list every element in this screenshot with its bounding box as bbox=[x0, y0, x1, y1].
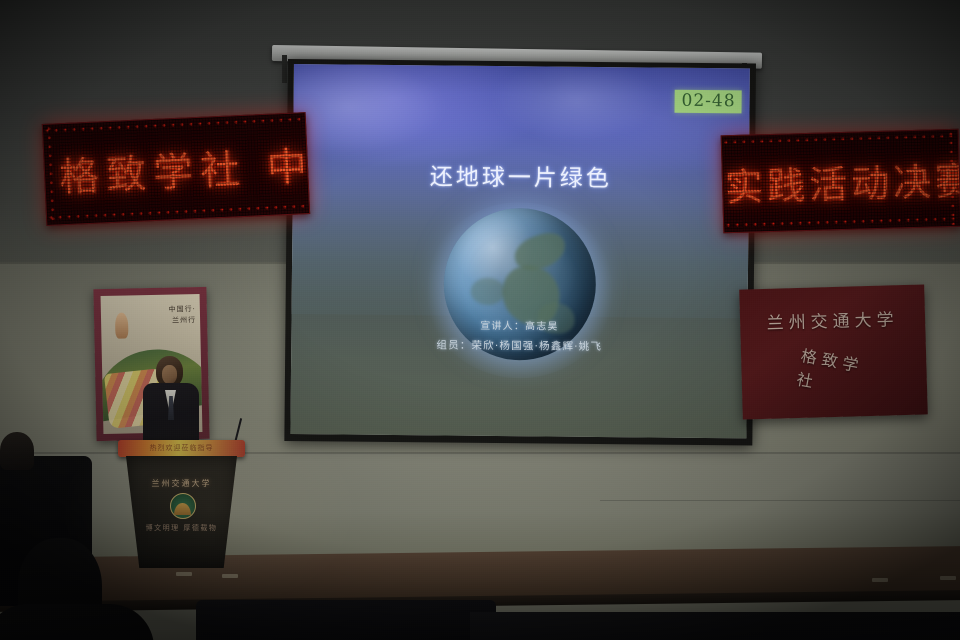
audience-seat-row bbox=[196, 600, 496, 640]
led-text-left: 格致学社 中 bbox=[44, 134, 308, 204]
slide-presenter-line: 宣讲人：高志昊 bbox=[291, 315, 747, 334]
podium: 热烈欢迎莅临指导 兰州交通大学 博文明理 厚德载物 bbox=[117, 440, 246, 568]
podium-university-text: 兰州交通大学 bbox=[117, 478, 246, 489]
led-marquee-right: 实践活动决赛 bbox=[721, 129, 960, 234]
slide-cloud-texture bbox=[293, 64, 750, 218]
floor-marker bbox=[176, 572, 192, 576]
presenter-face bbox=[162, 365, 177, 384]
floor-marker bbox=[940, 576, 956, 580]
slide-title: 还地球一片绿色 bbox=[293, 156, 749, 194]
globe-landmass bbox=[471, 278, 505, 306]
podium-top-panel: 热烈欢迎莅临指导 bbox=[118, 440, 245, 457]
poster-figure-icon bbox=[115, 312, 129, 338]
led-marquee-left: 格致学社 中 bbox=[42, 112, 310, 226]
podium-top-text: 热烈欢迎莅临指导 bbox=[118, 443, 245, 453]
wall-banner: 兰州交通大学 格致学社 bbox=[739, 284, 928, 419]
banner-line-university: 兰州交通大学 bbox=[766, 305, 899, 334]
floor-marker bbox=[872, 578, 888, 582]
wall-seam-right bbox=[600, 500, 960, 501]
poster-title-line2: 兰州行 bbox=[169, 315, 196, 326]
screen-frame: 02-48 还地球一片绿色 宣讲人：高志昊 组员：荣欣·杨国强·杨鑫辉·姚飞 bbox=[284, 59, 756, 445]
banner-line-society: 格致学社 bbox=[795, 342, 873, 403]
led-border-dots-top bbox=[722, 132, 958, 148]
screen-arm-left bbox=[282, 55, 287, 83]
slide-members-line: 组员：荣欣·杨国强·杨鑫辉·姚飞 bbox=[291, 336, 747, 355]
slide-number-badge: 02-48 bbox=[674, 90, 741, 114]
podium-motto-text: 博文明理 厚德载物 bbox=[117, 523, 246, 533]
poster-title-line1: 中国行· bbox=[169, 304, 196, 315]
screen-surface: 02-48 还地球一片绿色 宣讲人：高志昊 组员：荣欣·杨国强·杨鑫辉·姚飞 bbox=[290, 64, 750, 438]
audience-person bbox=[0, 432, 34, 470]
led-text-right: 实践活动决赛 bbox=[722, 150, 959, 212]
floor-marker bbox=[222, 574, 238, 578]
emblem-arc-shape bbox=[174, 503, 191, 515]
audience-person-shoulders bbox=[0, 604, 154, 640]
university-emblem-icon bbox=[170, 493, 196, 519]
poster-title: 中国行· 兰州行 bbox=[169, 304, 197, 326]
slide-credits: 宣讲人：高志昊 组员：荣欣·杨国强·杨鑫辉·姚飞 bbox=[291, 309, 747, 361]
audience-seat-row bbox=[470, 612, 960, 640]
auditorium-scene: 中国行· 兰州行 兰州交通大学 格致学社 02-48 还地球一片绿色 bbox=[0, 0, 960, 640]
projected-slide: 02-48 还地球一片绿色 bbox=[291, 64, 750, 348]
